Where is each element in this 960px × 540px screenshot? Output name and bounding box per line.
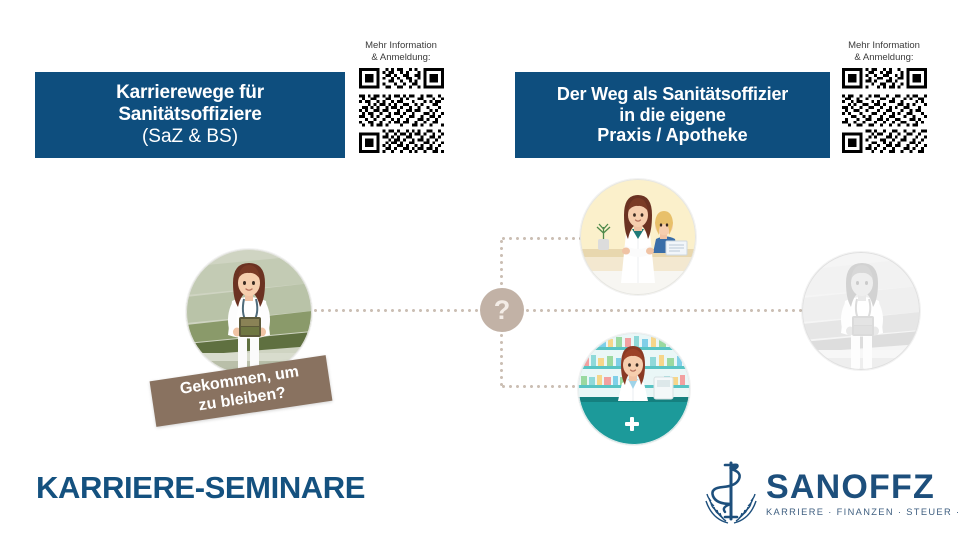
slide-canvas: Karrierewege für Sanitätsoffiziere (SaZ … (0, 0, 960, 540)
doctor-portrait-faded-icon (802, 252, 920, 370)
node-own-pharmacy[interactable] (578, 333, 690, 445)
logo-sanoffz: SANOFFZ KARRIERE · FINANZEN · STEUER · R… (700, 452, 932, 534)
connector-question-to-end (524, 309, 802, 312)
logo-subtitle: KARRIERE · FINANZEN · STEUER · RECHT (766, 507, 960, 517)
qr-caption-line-2: & Anmeldung: (836, 52, 932, 64)
qr-caption-line-1: Mehr Information (353, 40, 449, 52)
connector-branch-down-horizontal (500, 385, 588, 388)
logo-text-block: SANOFFZ KARRIERE · FINANZEN · STEUER · R… (766, 470, 960, 517)
logo-name: SANOFFZ (766, 470, 960, 504)
qr-block-right: Mehr Information & Anmeldung: (836, 40, 932, 153)
page-title: KARRIERE-SEMINARE (36, 470, 365, 506)
connector-branch-down-vertical (500, 332, 503, 387)
qr-code-icon[interactable] (842, 68, 927, 153)
asclepius-rod-wreath-icon (700, 455, 762, 531)
question-mark-icon: ? (494, 297, 511, 324)
pharmacy-icon (578, 333, 690, 445)
node-start-doctor[interactable] (186, 249, 312, 375)
qr-code-icon[interactable] (359, 68, 444, 153)
qr-block-left: Mehr Information & Anmeldung: (353, 40, 449, 153)
banner-line-3: (SaZ & BS) (142, 126, 238, 148)
node-end-doctor-faded[interactable] (802, 252, 920, 370)
doctor-portrait-icon (186, 249, 312, 375)
connector-branch-up-horizontal (500, 237, 590, 240)
banner-line-2: in die eigene (619, 105, 725, 126)
medical-practice-icon (580, 179, 696, 295)
connector-branch-up-vertical (500, 238, 503, 290)
question-node[interactable]: ? (480, 288, 524, 332)
qr-caption-line-2: & Anmeldung: (353, 52, 449, 64)
banner-line-1: Der Weg als Sanitätsoffizier (557, 84, 788, 105)
banner-line-1: Karrierewege für (116, 82, 264, 104)
banner-line-3: Praxis / Apotheke (597, 125, 747, 146)
connector-start-to-question (312, 309, 482, 312)
banner-line-2: Sanitätsoffiziere (118, 104, 261, 126)
banner-karrierewege: Karrierewege für Sanitätsoffiziere (SaZ … (35, 72, 345, 158)
qr-caption-line-1: Mehr Information (836, 40, 932, 52)
banner-eigene-praxis: Der Weg als Sanitätsoffizier in die eige… (515, 72, 830, 158)
node-own-practice[interactable] (580, 179, 696, 295)
qr-caption: Mehr Information & Anmeldung: (836, 40, 932, 64)
qr-caption: Mehr Information & Anmeldung: (353, 40, 449, 64)
